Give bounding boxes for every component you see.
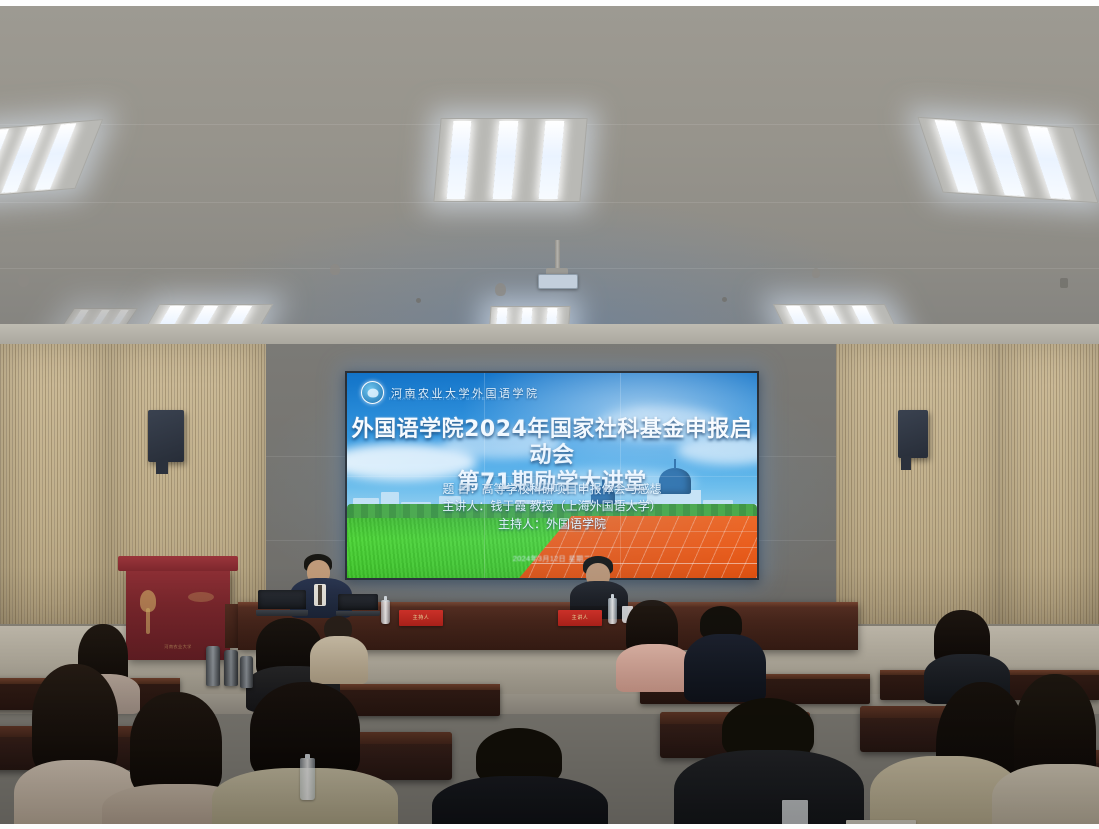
wood-slat-panel-far-right	[999, 344, 1099, 644]
wall-speaker-right	[898, 410, 928, 458]
thermos-flask	[224, 650, 238, 686]
glass-cup	[782, 800, 808, 824]
led-video-wall[interactable]: 河南农业大学外国语学院 HENAN AGRICULTURAL UNIVERSIT…	[345, 371, 759, 580]
torso	[616, 644, 692, 692]
ceiling-fitting	[416, 298, 421, 303]
wood-slat-panel-right	[836, 344, 1001, 644]
thermos-flask	[206, 646, 220, 686]
laptop-screen	[338, 594, 378, 610]
laptop-left[interactable]	[258, 590, 306, 616]
smoke-detector-icon	[495, 283, 506, 296]
nameplate-left: 主持人	[399, 610, 443, 626]
ceiling-light-panel	[433, 118, 587, 202]
audience-person-foreground	[688, 698, 844, 824]
audience-person	[620, 600, 686, 692]
slide-subtitle-speaker: 主讲人：钱于霞 教授（上海外国语大学）	[347, 498, 757, 515]
screenshot-root: 河南农业大学外国语学院 HENAN AGRICULTURAL UNIVERSIT…	[0, 0, 1099, 829]
podium-top	[118, 556, 238, 571]
wall-speaker-left	[148, 410, 184, 462]
torso	[992, 764, 1099, 824]
audience-person-foreground	[228, 682, 378, 824]
ceiling-fitting	[1060, 278, 1068, 288]
ceiling-fitting	[722, 297, 727, 302]
water-bottle	[300, 758, 315, 800]
slide-watermark: 2024年3月12日 星期二	[347, 554, 757, 564]
university-crest-icon	[361, 381, 384, 404]
torso	[674, 750, 864, 824]
torso	[432, 776, 608, 824]
ceiling-light-panel	[917, 117, 1098, 203]
slide-subtitle-host: 主持人：外国语学院	[347, 516, 757, 533]
water-bottle	[608, 598, 617, 624]
smoke-detector-icon	[812, 268, 820, 278]
smoke-detector-icon	[18, 274, 29, 287]
nameplate-right: 主讲人	[558, 610, 602, 626]
slide-subtitle-topic: 题 目：高等学校科研项目申报体会与感想	[347, 481, 757, 498]
slide-title-line1: 外国语学院2024年国家社科基金申报启动会	[347, 417, 757, 469]
university-name-latin: HENAN AGRICULTURAL UNIVERSITY	[389, 396, 506, 401]
ceiling-light-panel	[0, 119, 103, 199]
photo-border-bottom	[0, 824, 1099, 829]
smoke-detector-icon	[330, 264, 340, 275]
laptop-keyboard	[256, 610, 309, 616]
torso	[684, 634, 766, 702]
ceiling-projector	[538, 274, 578, 289]
audience-person-foreground	[1004, 674, 1099, 824]
wood-slat-panel-far-left	[0, 344, 110, 644]
torso	[310, 636, 368, 684]
slide-subtitle-block: 题 目：高等学校科研项目申报体会与感想 主讲人：钱于霞 教授（上海外国语大学） …	[347, 481, 757, 533]
water-bottle	[381, 600, 390, 624]
photo-border-top	[0, 0, 1099, 6]
hair	[130, 692, 222, 796]
audience-person	[310, 612, 368, 684]
audience-person-foreground	[442, 728, 592, 824]
conference-room-photo: 河南农业大学外国语学院 HENAN AGRICULTURAL UNIVERSIT…	[0, 6, 1099, 824]
laptop-screen	[258, 590, 306, 609]
ceiling	[0, 6, 1099, 336]
audience-person	[686, 606, 758, 702]
